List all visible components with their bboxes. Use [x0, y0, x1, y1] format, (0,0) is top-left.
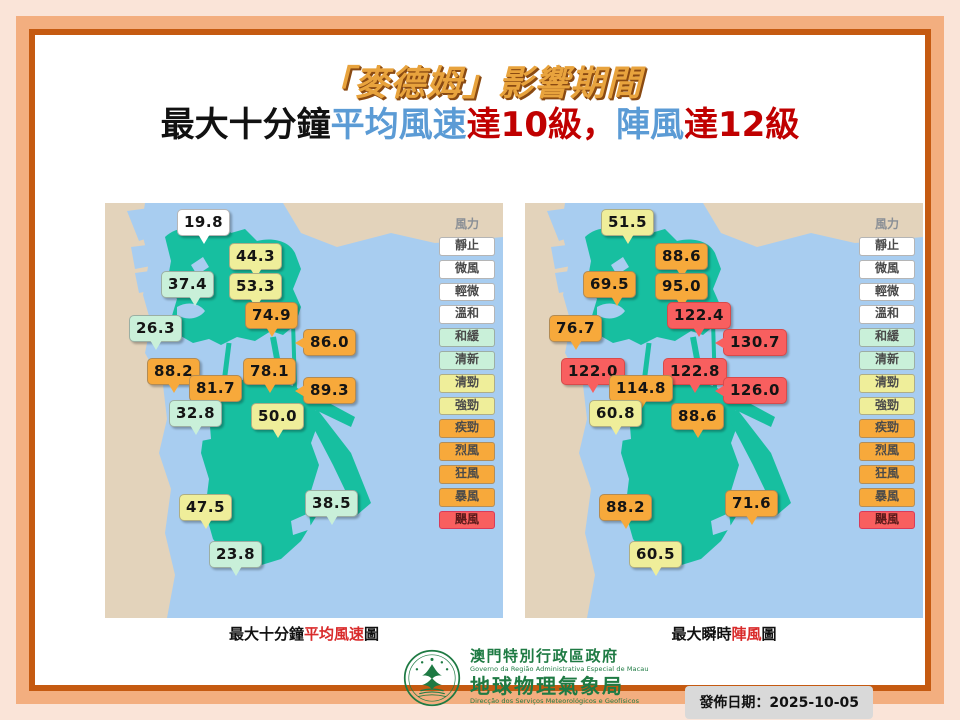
wind-value-pin[interactable]: 86.0 — [303, 329, 356, 356]
wind-value-label: 114.8 — [616, 379, 666, 397]
wind-value-pin[interactable]: 44.3 — [229, 243, 282, 270]
wind-value-label: 37.4 — [168, 275, 207, 293]
pin-tail — [689, 383, 701, 393]
legend-item-4: 和緩 — [859, 328, 915, 347]
legend-item-11: 暴風 — [439, 488, 495, 507]
wind-value-label: 60.8 — [596, 404, 635, 422]
wind-value-pin[interactable]: 47.5 — [179, 494, 232, 521]
government-name-cn: 澳門特別行政區政府 — [470, 649, 649, 665]
pin-tail — [295, 385, 305, 397]
wind-force-legend: 風力 靜止微風輕微溫和和緩清新清勁強勁疾勁烈風狂風暴風颶風 — [439, 215, 495, 533]
wind-value-label: 88.2 — [606, 498, 645, 516]
pin-tail — [650, 566, 662, 576]
wind-value-label: 122.4 — [674, 306, 724, 324]
title-run-3: 陣風 — [616, 105, 684, 145]
wind-value-pin[interactable]: 19.8 — [177, 209, 230, 236]
wind-value-label: 95.0 — [662, 277, 701, 295]
pin-tail — [168, 383, 180, 393]
wind-value-label: 69.5 — [590, 275, 629, 293]
legend-item-12: 颶風 — [439, 511, 495, 530]
pin-tail — [587, 383, 599, 393]
wind-value-label: 38.5 — [312, 494, 351, 512]
wind-value-label: 122.8 — [670, 362, 720, 380]
legend-item-list: 靜止微風輕微溫和和緩清新清勁強勁疾勁烈風狂風暴風颶風 — [439, 237, 495, 529]
pin-tail — [264, 383, 276, 393]
pin-tail — [272, 428, 284, 438]
wind-value-pin[interactable]: 71.6 — [725, 490, 778, 517]
wind-value-label: 86.0 — [310, 333, 349, 351]
macau-smg-emblem-icon — [403, 649, 461, 707]
title-block: 「麥德姆」影響期間 最大十分鐘平均風速達10級，陣風達12級 — [35, 65, 925, 147]
wind-value-pin[interactable]: 81.7 — [189, 375, 242, 402]
wind-value-label: 26.3 — [136, 319, 175, 337]
wind-force-legend: 風力 靜止微風輕微溫和和緩清新清勁強勁疾勁烈風狂風暴風颶風 — [859, 215, 915, 533]
legend-item-10: 狂風 — [859, 465, 915, 484]
legend-item-9: 烈風 — [859, 442, 915, 461]
content-canvas: 「麥德姆」影響期間 最大十分鐘平均風速達10級，陣風達12級 風力 靜止微風輕微… — [35, 35, 925, 685]
title-run-2: 達10級， — [467, 105, 616, 145]
infographic-page: 「麥德姆」影響期間 最大十分鐘平均風速達10級，陣風達12級 風力 靜止微風輕微… — [0, 0, 960, 720]
legend-item-5: 清新 — [859, 351, 915, 370]
gust-map[interactable]: 風力 靜止微風輕微溫和和緩清新清勁強勁疾勁烈風狂風暴風颶風 51.588.669… — [525, 203, 923, 618]
wind-value-pin[interactable]: 60.8 — [589, 400, 642, 427]
wind-value-pin[interactable]: 78.1 — [243, 358, 296, 385]
wind-value-label: 76.7 — [556, 319, 595, 337]
wind-value-pin[interactable]: 37.4 — [161, 271, 214, 298]
caption-run-2: 圖 — [364, 625, 379, 643]
wind-value-pin[interactable]: 130.7 — [723, 329, 787, 356]
frame-middle-border: 「麥德姆」影響期間 最大十分鐘平均風速達10級，陣風達12級 風力 靜止微風輕微… — [16, 16, 944, 704]
wind-value-pin[interactable]: 88.2 — [599, 494, 652, 521]
wind-value-pin[interactable]: 60.5 — [629, 541, 682, 568]
legend-item-10: 狂風 — [439, 465, 495, 484]
wind-value-label: 53.3 — [236, 277, 275, 295]
caption-run-1: 陣風 — [731, 625, 761, 643]
legend-item-8: 疾勁 — [859, 419, 915, 438]
wind-value-pin[interactable]: 114.8 — [609, 375, 673, 402]
legend-item-2: 輕微 — [859, 283, 915, 302]
mean-wind-caption: 最大十分鐘平均風速圖 — [105, 623, 503, 644]
legend-item-2: 輕微 — [439, 283, 495, 302]
pin-tail — [190, 425, 202, 435]
caption-run-1: 平均風速 — [304, 625, 364, 643]
pin-tail — [570, 340, 582, 350]
wind-value-pin[interactable]: 76.7 — [549, 315, 602, 342]
pin-tail — [266, 327, 278, 337]
wind-value-label: 60.5 — [636, 545, 675, 563]
legend-item-12: 颶風 — [859, 511, 915, 530]
pin-tail — [326, 515, 338, 525]
wind-value-label: 89.3 — [310, 381, 349, 399]
pin-tail — [610, 425, 622, 435]
department-name-cn: 地球物理氣象局 — [470, 675, 649, 697]
legend-item-1: 微風 — [439, 260, 495, 279]
wind-value-label: 71.6 — [732, 494, 771, 512]
mean-wind-map[interactable]: 風力 靜止微風輕微溫和和緩清新清勁強勁疾勁烈風狂風暴風颶風 19.844.337… — [105, 203, 503, 618]
wind-value-pin[interactable]: 23.8 — [209, 541, 262, 568]
gust-caption: 最大瞬時陣風圖 — [525, 623, 923, 644]
wind-value-label: 81.7 — [196, 379, 235, 397]
pin-tail — [230, 566, 242, 576]
legend-item-list: 靜止微風輕微溫和和緩清新清勁強勁疾勁烈風狂風暴風颶風 — [859, 237, 915, 529]
wind-value-pin[interactable]: 126.0 — [723, 377, 787, 404]
wind-value-pin[interactable]: 74.9 — [245, 302, 298, 329]
pin-tail — [692, 428, 704, 438]
gust-panel: 風力 靜止微風輕微溫和和緩清新清勁強勁疾勁烈風狂風暴風颶風 51.588.669… — [525, 203, 923, 618]
department-name-pt: Direcção dos Serviços Meteorológicos e G… — [470, 697, 649, 707]
pin-tail — [622, 234, 634, 244]
wind-value-pin[interactable]: 26.3 — [129, 315, 182, 342]
legend-title: 風力 — [439, 215, 495, 232]
wind-value-label: 44.3 — [236, 247, 275, 265]
caption-run-0: 最大瞬時 — [671, 625, 731, 643]
wind-value-label: 126.0 — [730, 381, 780, 399]
legend-item-5: 清新 — [439, 351, 495, 370]
wind-value-label: 88.6 — [678, 407, 717, 425]
wind-value-label: 88.6 — [662, 247, 701, 265]
publish-date-badge: 發佈日期：2025-10-05 — [685, 686, 873, 719]
legend-item-3: 溫和 — [859, 305, 915, 324]
title-run-4: 達12級 — [684, 105, 799, 145]
legend-item-7: 強勁 — [859, 397, 915, 416]
pin-tail — [198, 234, 210, 244]
legend-item-11: 暴風 — [859, 488, 915, 507]
legend-item-6: 清勁 — [439, 374, 495, 393]
wind-value-pin[interactable]: 32.8 — [169, 400, 222, 427]
caption-run-2: 圖 — [762, 625, 777, 643]
wind-value-pin[interactable]: 50.0 — [251, 403, 304, 430]
legend-item-7: 強勁 — [439, 397, 495, 416]
wind-value-pin[interactable]: 88.6 — [655, 243, 708, 270]
legend-item-1: 微風 — [859, 260, 915, 279]
pin-tail — [715, 337, 725, 349]
pin-tail — [295, 337, 305, 349]
wind-value-label: 88.2 — [154, 362, 193, 380]
legend-item-6: 清勁 — [859, 374, 915, 393]
page-title-line1: 「麥德姆」影響期間 — [35, 65, 925, 104]
wind-value-label: 78.1 — [250, 362, 289, 380]
wind-value-pin[interactable]: 95.0 — [655, 273, 708, 300]
wind-value-label: 19.8 — [184, 213, 223, 231]
wind-value-pin[interactable]: 51.5 — [601, 209, 654, 236]
pin-tail — [715, 385, 725, 397]
page-title-line2: 最大十分鐘平均風速達10級，陣風達12級 — [35, 104, 925, 147]
pin-tail — [611, 296, 623, 306]
legend-item-0: 靜止 — [439, 237, 495, 256]
wind-value-label: 50.0 — [258, 407, 297, 425]
wind-value-label: 47.5 — [186, 498, 225, 516]
pin-tail — [693, 327, 705, 337]
wind-value-label: 23.8 — [216, 545, 255, 563]
wind-value-label: 74.9 — [252, 306, 291, 324]
frame-inner-border: 「麥德姆」影響期間 最大十分鐘平均風速達10級，陣風達12級 風力 靜止微風輕微… — [29, 29, 931, 691]
legend-item-3: 溫和 — [439, 305, 495, 324]
wind-value-pin[interactable]: 89.3 — [303, 377, 356, 404]
caption-run-0: 最大十分鐘 — [229, 625, 304, 643]
legend-title: 風力 — [859, 215, 915, 232]
wind-value-pin[interactable]: 122.4 — [667, 302, 731, 329]
wind-value-pin[interactable]: 38.5 — [305, 490, 358, 517]
wind-value-pin[interactable]: 88.6 — [671, 403, 724, 430]
mean-wind-panel: 風力 靜止微風輕微溫和和緩清新清勁強勁疾勁烈風狂風暴風颶風 19.844.337… — [105, 203, 503, 618]
wind-value-label: 51.5 — [608, 213, 647, 231]
pin-tail — [620, 519, 632, 529]
smg-logo-block: 澳門特別行政區政府 Governo da Região Administrati… — [403, 649, 649, 707]
legend-item-9: 烈風 — [439, 442, 495, 461]
pin-tail — [150, 340, 162, 350]
legend-item-4: 和緩 — [439, 328, 495, 347]
wind-value-label: 32.8 — [176, 404, 215, 422]
title-run-1: 平均風速 — [331, 105, 467, 145]
pin-tail — [746, 515, 758, 525]
pin-tail — [200, 519, 212, 529]
wind-value-pin[interactable]: 53.3 — [229, 273, 282, 300]
legend-item-8: 疾勁 — [439, 419, 495, 438]
wind-value-pin[interactable]: 69.5 — [583, 271, 636, 298]
pin-tail — [189, 296, 201, 306]
logo-text-block: 澳門特別行政區政府 Governo da Região Administrati… — [470, 649, 649, 706]
legend-item-0: 靜止 — [859, 237, 915, 256]
title-run-0: 最大十分鐘 — [161, 105, 331, 145]
wind-value-label: 130.7 — [730, 333, 780, 351]
